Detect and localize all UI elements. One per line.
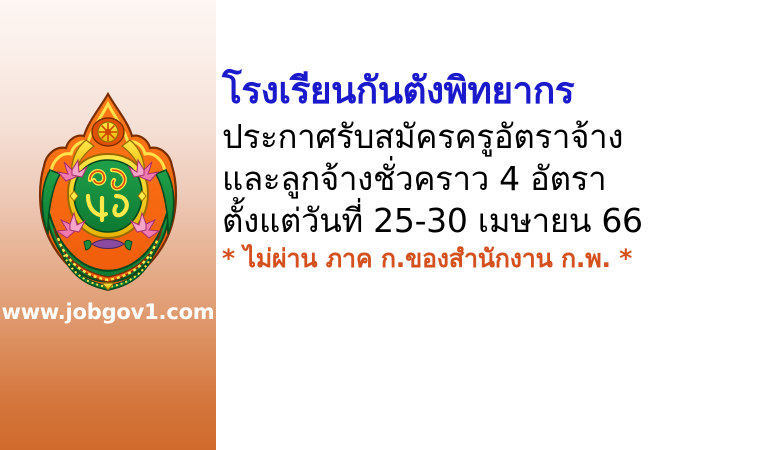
announcement-line-1: ประกาศรับสมัครครูอัตราจ้าง (222, 120, 770, 153)
announcement-content-panel: โรงเรียนกันตังพิทยากร ประกาศรับสมัครครูอ… (216, 0, 770, 450)
exemption-note: * ไม่ผ่าน ภาค ก.ของสำนักงาน ก.พ. * (222, 246, 770, 271)
obec-emblem-icon (36, 92, 180, 298)
brand-panel: www.jobgov1.com (0, 0, 216, 450)
announcement-text-block: โรงเรียนกันตังพิทยากร ประกาศรับสมัครครูอ… (222, 72, 770, 271)
job-announcement-poster: www.jobgov1.com โรงเรียนกันตังพิทยากร ปร… (0, 0, 770, 450)
announcement-line-2: และลูกจ้างชั่วคราว 4 อัตรา (222, 162, 770, 195)
announcement-line-3-dates: ตั้งแต่วันที่ 25-30 เมษายน 66 (222, 204, 770, 237)
site-url-watermark: www.jobgov1.com (0, 300, 216, 324)
school-name-heading: โรงเรียนกันตังพิทยากร (222, 72, 770, 109)
